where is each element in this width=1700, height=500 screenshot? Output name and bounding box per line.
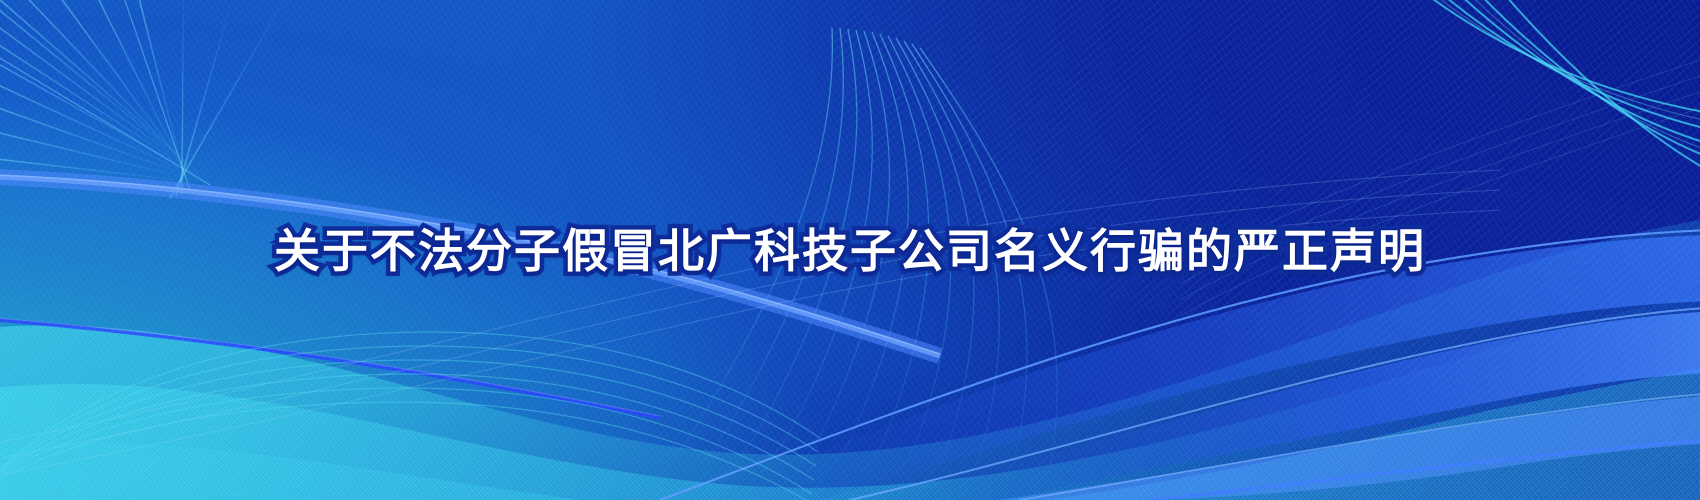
announcement-banner: 关于不法分子假冒北广科技子公司名义行骗的严正声明 (0, 0, 1700, 500)
diagonal-texture-secondary (0, 0, 1700, 500)
